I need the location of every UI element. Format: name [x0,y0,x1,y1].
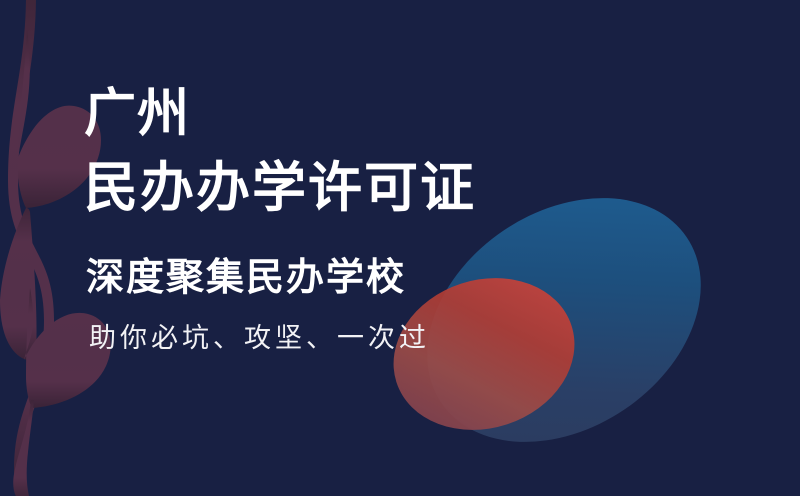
promo-banner: 广州 民办办学许可证 深度聚集民办学校 助你必坑、攻坚、一次过 [0,0,800,496]
background-artwork [0,0,800,496]
